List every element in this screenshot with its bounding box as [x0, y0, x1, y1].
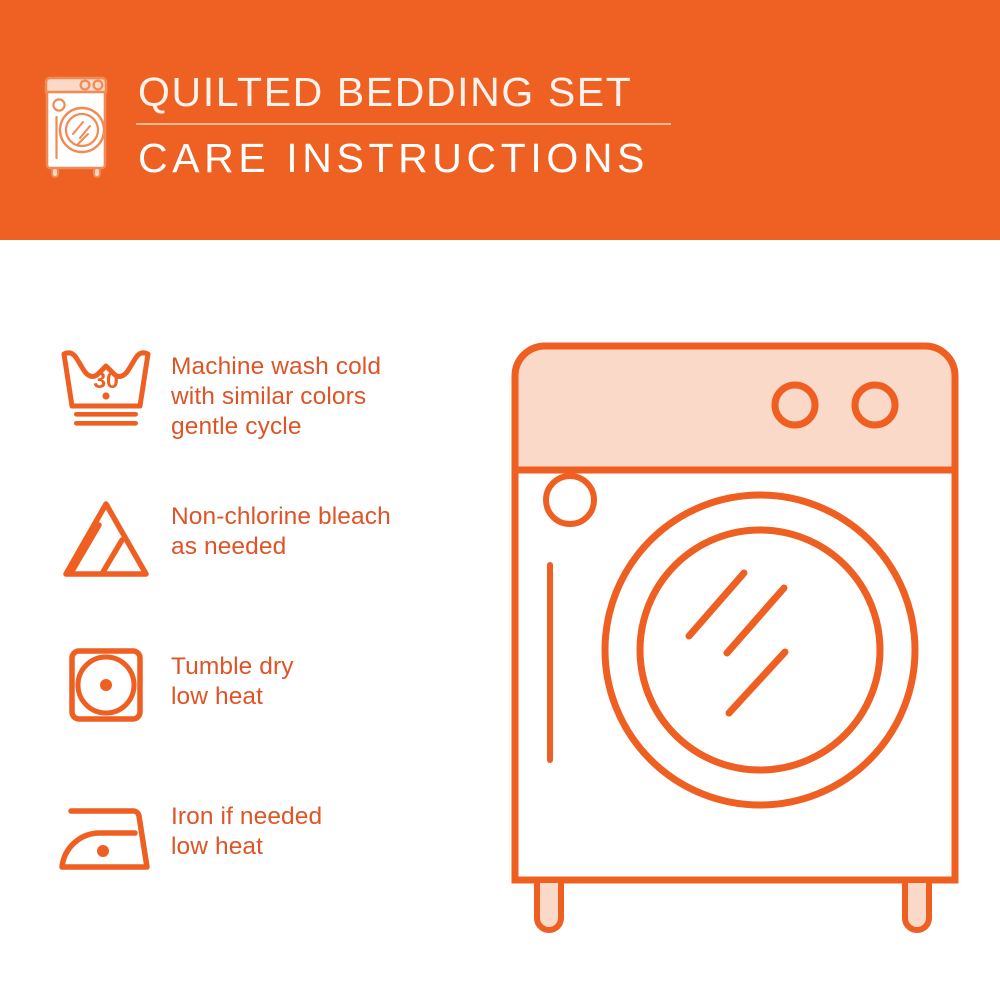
- care-instructions-list: 30 Machine wash cold with similar colors…: [48, 330, 488, 930]
- leg-right: [905, 880, 929, 930]
- care-symbol-wrapper: [48, 480, 163, 598]
- header-title-block: QUILTED BEDDING SET CARE INSTRUCTIONS: [136, 68, 671, 182]
- care-text-line: low heat: [171, 682, 294, 712]
- tumble-dry-low-heat-icon: [60, 648, 152, 730]
- leg-left: [537, 880, 561, 930]
- washing-machine-icon: [42, 72, 114, 182]
- care-text-line: Tumble dry: [171, 652, 294, 682]
- care-text-line: with similar colors: [171, 382, 381, 412]
- title-divider: [136, 123, 671, 125]
- care-instruction-item-iron: Iron if needed low heat: [48, 780, 488, 930]
- header-banner: QUILTED BEDDING SET CARE INSTRUCTIONS: [0, 0, 1000, 240]
- care-text-line: gentle cycle: [171, 412, 381, 442]
- care-instruction-text: Iron if needed low heat: [163, 780, 322, 862]
- care-symbol-wrapper: [48, 630, 163, 748]
- care-text-line: Iron if needed: [171, 802, 322, 832]
- header-content: QUILTED BEDDING SET CARE INSTRUCTIONS: [42, 68, 671, 182]
- machine-wash-30-gentle-icon: 30: [60, 348, 152, 430]
- care-symbol-wrapper: 30: [48, 330, 163, 448]
- care-instruction-item-tumble-dry: Tumble dry low heat: [48, 630, 488, 780]
- care-instruction-item-bleach: Non-chlorine bleach as needed: [48, 480, 488, 630]
- gentle-bar-2: [74, 421, 138, 426]
- gentle-bar-1: [74, 412, 138, 417]
- care-instruction-text: Tumble dry low heat: [163, 630, 294, 712]
- page-title: QUILTED BEDDING SET: [136, 68, 671, 116]
- iron-low-heat-icon: [57, 801, 155, 877]
- non-chlorine-bleach-triangle-icon: [60, 498, 152, 580]
- wash-temp-label: 30: [93, 367, 119, 393]
- care-instruction-item-machine-wash: 30 Machine wash cold with similar colors…: [48, 330, 488, 480]
- iron-heat-dot: [97, 845, 109, 857]
- care-symbol-wrapper: [48, 780, 163, 898]
- status-light: [546, 476, 594, 524]
- knob-left[interactable]: [775, 385, 815, 425]
- front-load-washing-machine-illustration: [495, 330, 975, 940]
- care-text-line: as needed: [171, 532, 391, 562]
- dry-heat-dot: [100, 679, 112, 691]
- knob-right[interactable]: [855, 385, 895, 425]
- care-text-line: low heat: [171, 832, 322, 862]
- care-text-line: Machine wash cold: [171, 352, 381, 382]
- care-instruction-text: Machine wash cold with similar colors ge…: [163, 330, 381, 442]
- care-text-line: Non-chlorine bleach: [171, 502, 391, 532]
- wash-temp-dot: [102, 392, 109, 399]
- drum-door-inner-ring: [640, 530, 880, 770]
- page-subtitle: CARE INSTRUCTIONS: [136, 134, 671, 182]
- care-instruction-text: Non-chlorine bleach as needed: [163, 480, 391, 562]
